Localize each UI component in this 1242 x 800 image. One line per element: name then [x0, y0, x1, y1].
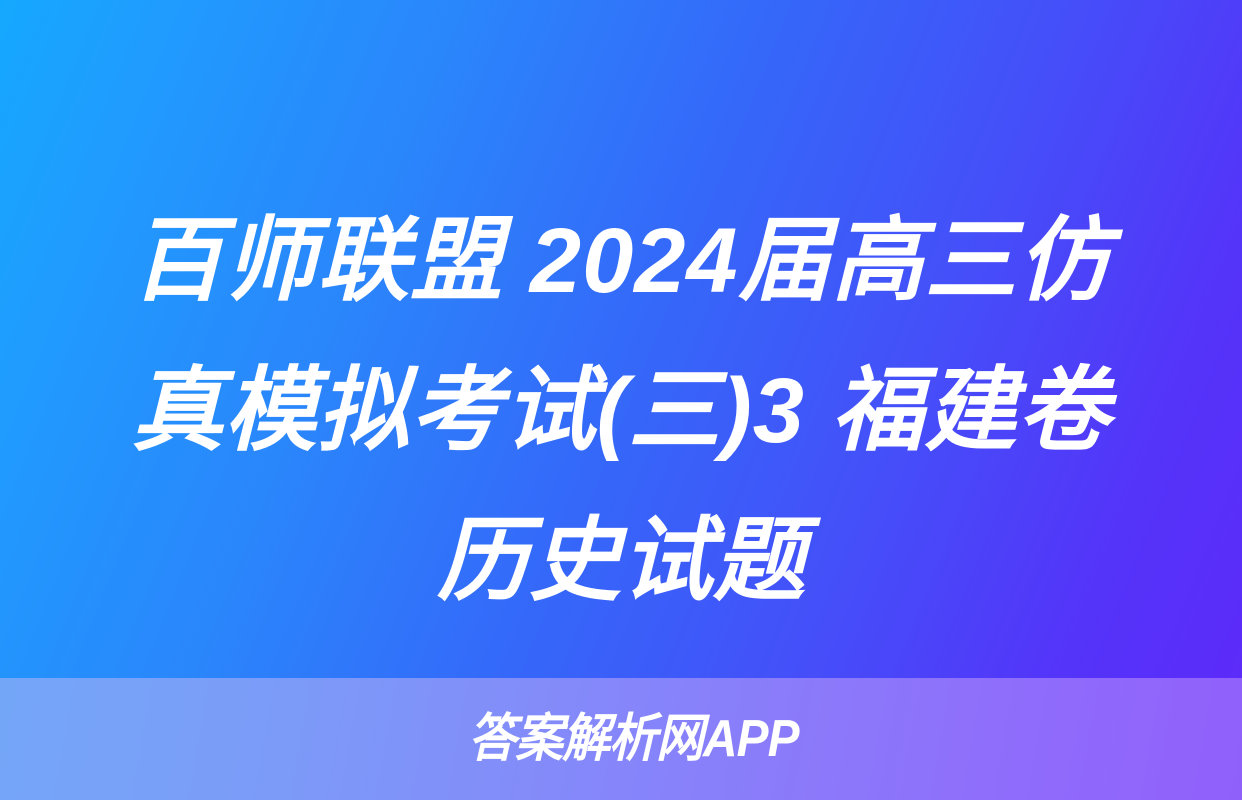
watermark-label: 答案解析网APP	[468, 713, 798, 765]
page-title: 百师联盟 2024届高三仿 真模拟考试(三)3 福建卷 历史试题	[76, 186, 1166, 636]
exam-cover-screenshot: 百师联盟 2024届高三仿 真模拟考试(三)3 福建卷 历史试题 答案解析网AP…	[0, 0, 1242, 800]
title-line-3: 历史试题	[76, 486, 1166, 636]
title-line-1: 百师联盟 2024届高三仿	[76, 186, 1166, 336]
title-banner: 百师联盟 2024届高三仿 真模拟考试(三)3 福建卷 历史试题	[0, 0, 1242, 678]
watermark-strip: 答案解析网APP	[0, 678, 1242, 800]
watermark-container: 答案解析网APP	[0, 678, 1242, 800]
title-line-2: 真模拟考试(三)3 福建卷	[76, 336, 1166, 486]
